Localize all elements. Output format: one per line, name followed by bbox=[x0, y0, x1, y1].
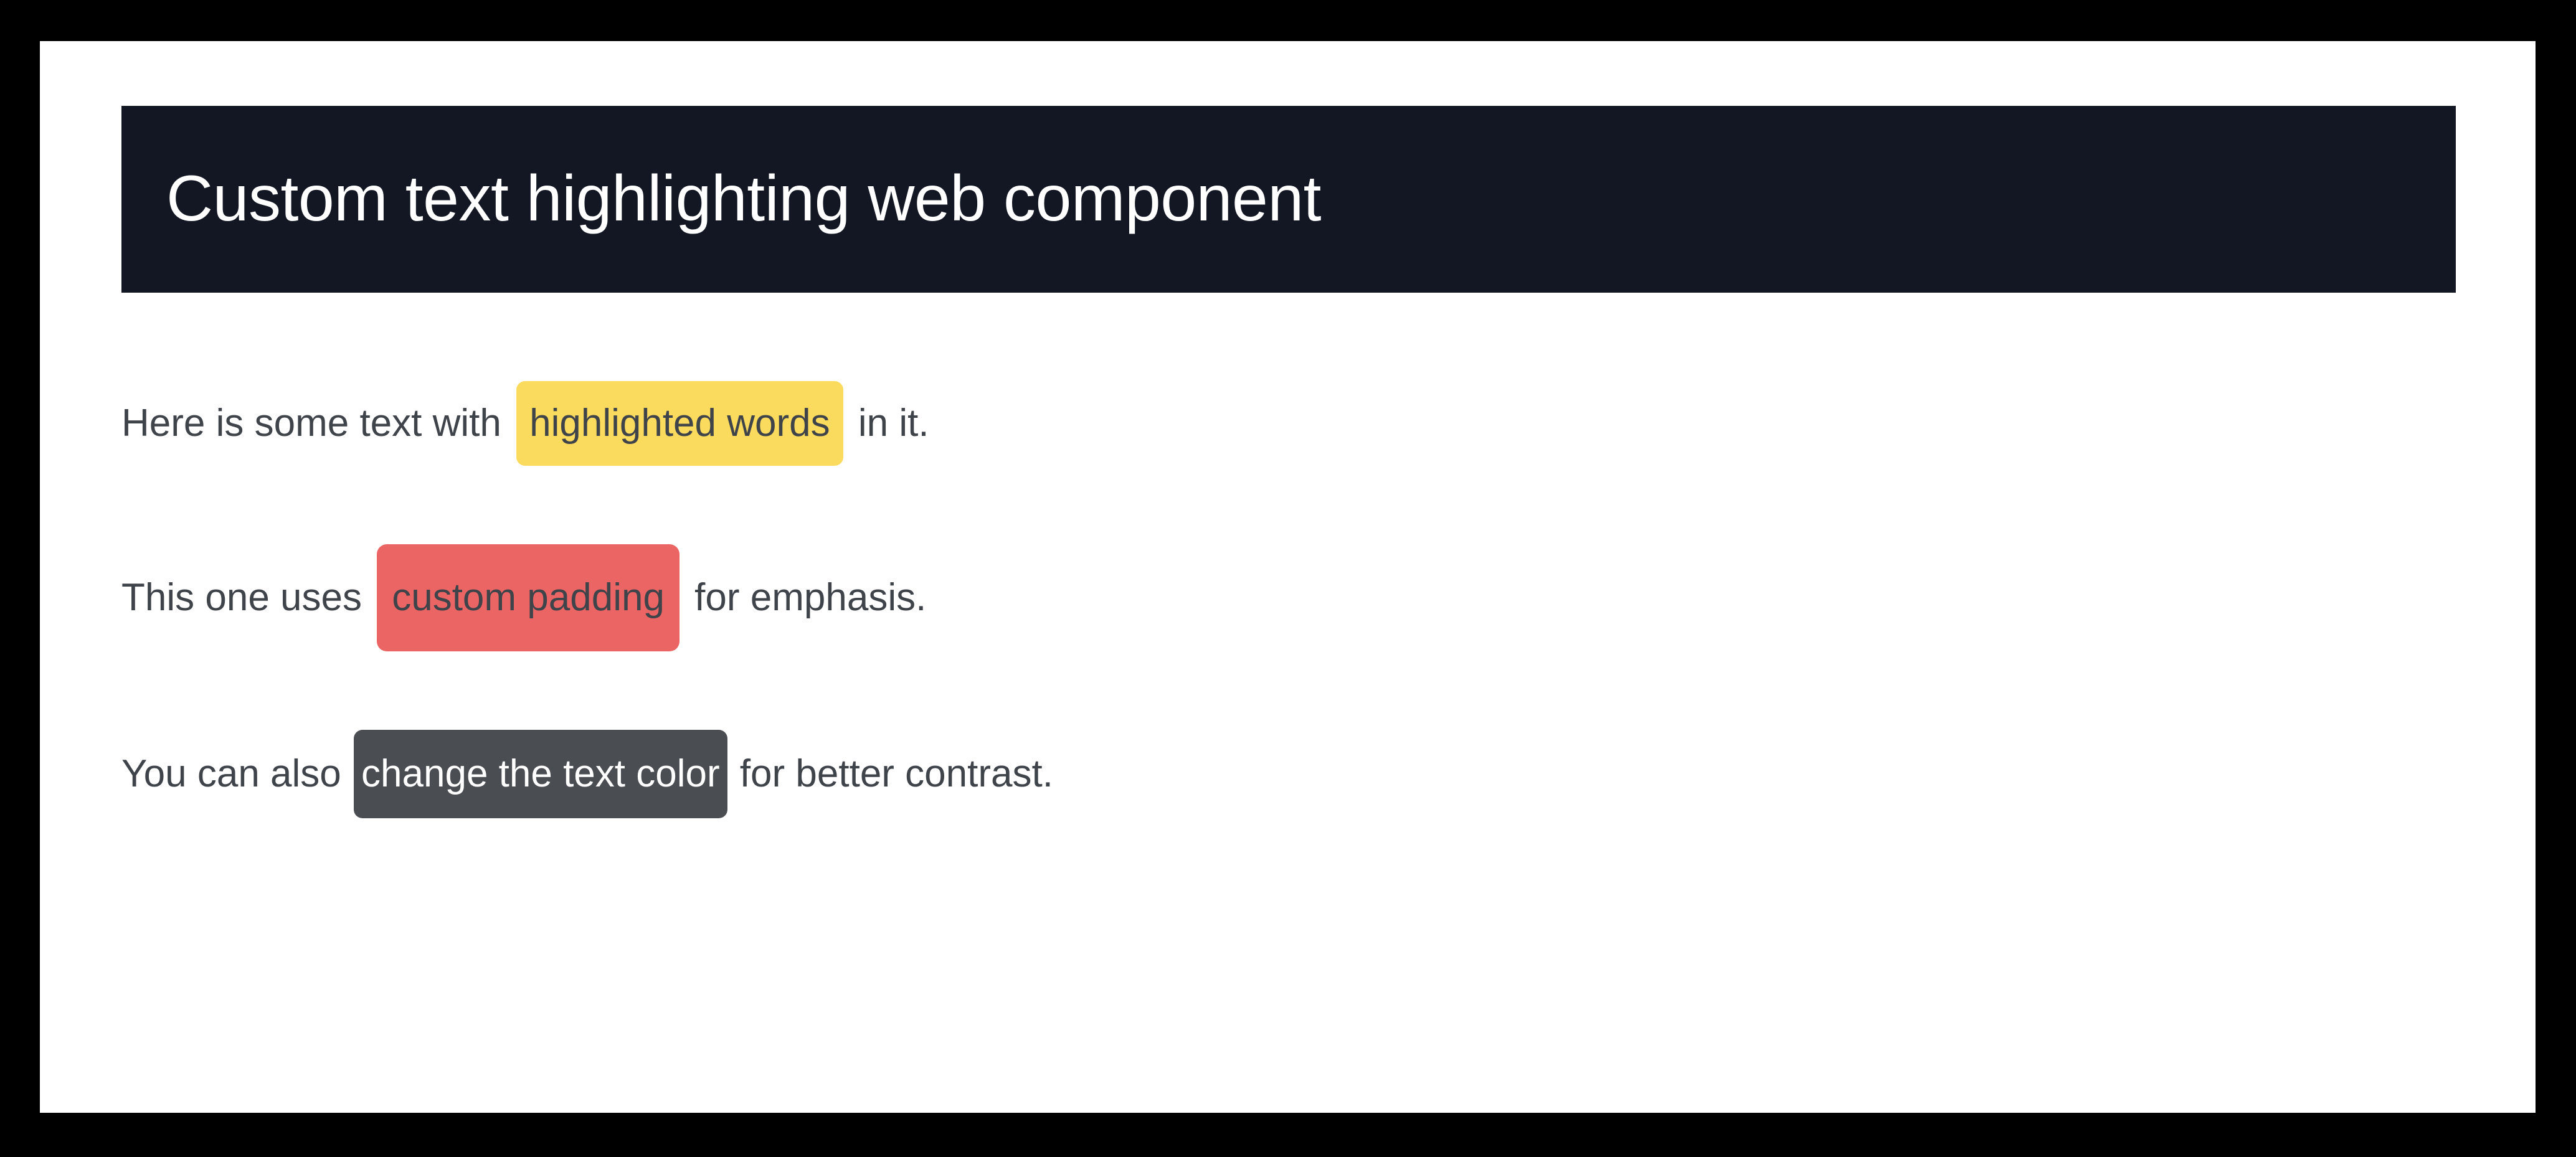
page-title: Custom text highlighting web component bbox=[166, 165, 1321, 233]
paragraph-highlighted-words: Here is some text with highlighted words… bbox=[121, 381, 2463, 466]
page-header-banner: Custom text highlighting web component bbox=[121, 106, 2456, 293]
paragraph-1-text-before: Here is some text with bbox=[121, 402, 512, 445]
page-card: Custom text highlighting web component H… bbox=[40, 41, 2536, 1113]
highlight-mark-dark[interactable]: change the text color bbox=[354, 730, 727, 818]
paragraph-1-text-after: in it. bbox=[848, 402, 929, 445]
paragraph-2-text-before: This one uses bbox=[121, 576, 372, 619]
paragraph-3-text-before: You can also bbox=[121, 752, 352, 795]
highlight-mark-red[interactable]: custom padding bbox=[377, 544, 680, 651]
paragraph-2-text-after: for emphasis. bbox=[684, 576, 926, 619]
paragraph-custom-padding: This one uses custom padding for emphasi… bbox=[121, 544, 2463, 651]
paragraph-3-text-after: for better contrast. bbox=[729, 752, 1053, 795]
paragraph-text-color: You can also change the text color for b… bbox=[121, 730, 2463, 818]
window-frame: Custom text highlighting web component H… bbox=[0, 0, 2576, 1157]
content-area: Here is some text with highlighted words… bbox=[121, 309, 2463, 857]
highlight-mark-yellow[interactable]: highlighted words bbox=[516, 381, 843, 466]
